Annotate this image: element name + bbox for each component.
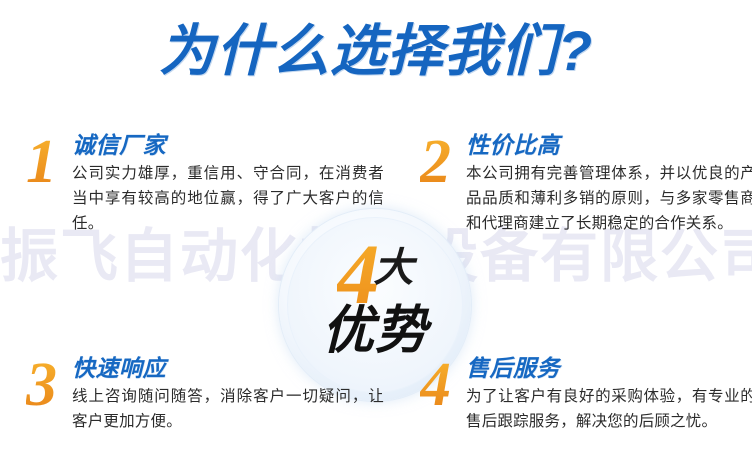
- feature-body-3: 快速响应 线上咨询随问随答，消除客户一切疑问，让客户更加方便。: [72, 356, 386, 434]
- feature-heading-1: 诚信厂家: [72, 133, 386, 159]
- feature-text-1: 公司实力雄厚，重信用、守合同，在消费者当中享有较高的地位赢，得了广大客户的信任。: [72, 161, 384, 236]
- feature-block-4: 4 售后服务 为了让客户有良好的采购体验，有专业的售后跟踪服务，解决您的后顾之忧…: [420, 356, 745, 434]
- feature-block-2: 2 性价比高 本公司拥有完善管理体系，并以优良的产品品质和薄利多销的原则，与多家…: [420, 133, 745, 236]
- feature-number-1: 1: [26, 135, 72, 190]
- promo-poster: 振飞自动化机械设备有限公司 4大 优势 为什么选择我们? 1 诚信厂家 公司实力…: [0, 0, 752, 475]
- badge-unit: 大: [374, 248, 414, 288]
- page-title: 为什么选择我们?: [0, 22, 752, 81]
- feature-number-4: 4: [420, 358, 466, 413]
- feature-body-1: 诚信厂家 公司实力雄厚，重信用、守合同，在消费者当中享有较高的地位赢，得了广大客…: [72, 133, 386, 236]
- feature-text-3: 线上咨询随问随答，消除客户一切疑问，让客户更加方便。: [72, 384, 384, 434]
- feature-number-3: 3: [26, 358, 72, 413]
- feature-number-2: 2: [420, 135, 466, 190]
- feature-heading-3: 快速响应: [72, 356, 386, 382]
- feature-heading-4: 售后服务: [466, 356, 745, 382]
- feature-block-1: 1 诚信厂家 公司实力雄厚，重信用、守合同，在消费者当中享有较高的地位赢，得了广…: [26, 133, 386, 236]
- badge-label: 优势: [279, 305, 471, 357]
- feature-block-3: 3 快速响应 线上咨询随问随答，消除客户一切疑问，让客户更加方便。: [26, 356, 386, 434]
- feature-text-4: 为了让客户有良好的采购体验，有专业的售后跟踪服务，解决您的后顾之忧。: [466, 384, 752, 434]
- feature-body-4: 售后服务 为了让客户有良好的采购体验，有专业的售后跟踪服务，解决您的后顾之忧。: [466, 356, 745, 434]
- feature-body-2: 性价比高 本公司拥有完善管理体系，并以优良的产品品质和薄利多销的原则，与多家零售…: [466, 133, 745, 236]
- feature-text-2: 本公司拥有完善管理体系，并以优良的产品品质和薄利多销的原则，与多家零售商和代理商…: [466, 161, 752, 236]
- feature-heading-2: 性价比高: [466, 133, 745, 159]
